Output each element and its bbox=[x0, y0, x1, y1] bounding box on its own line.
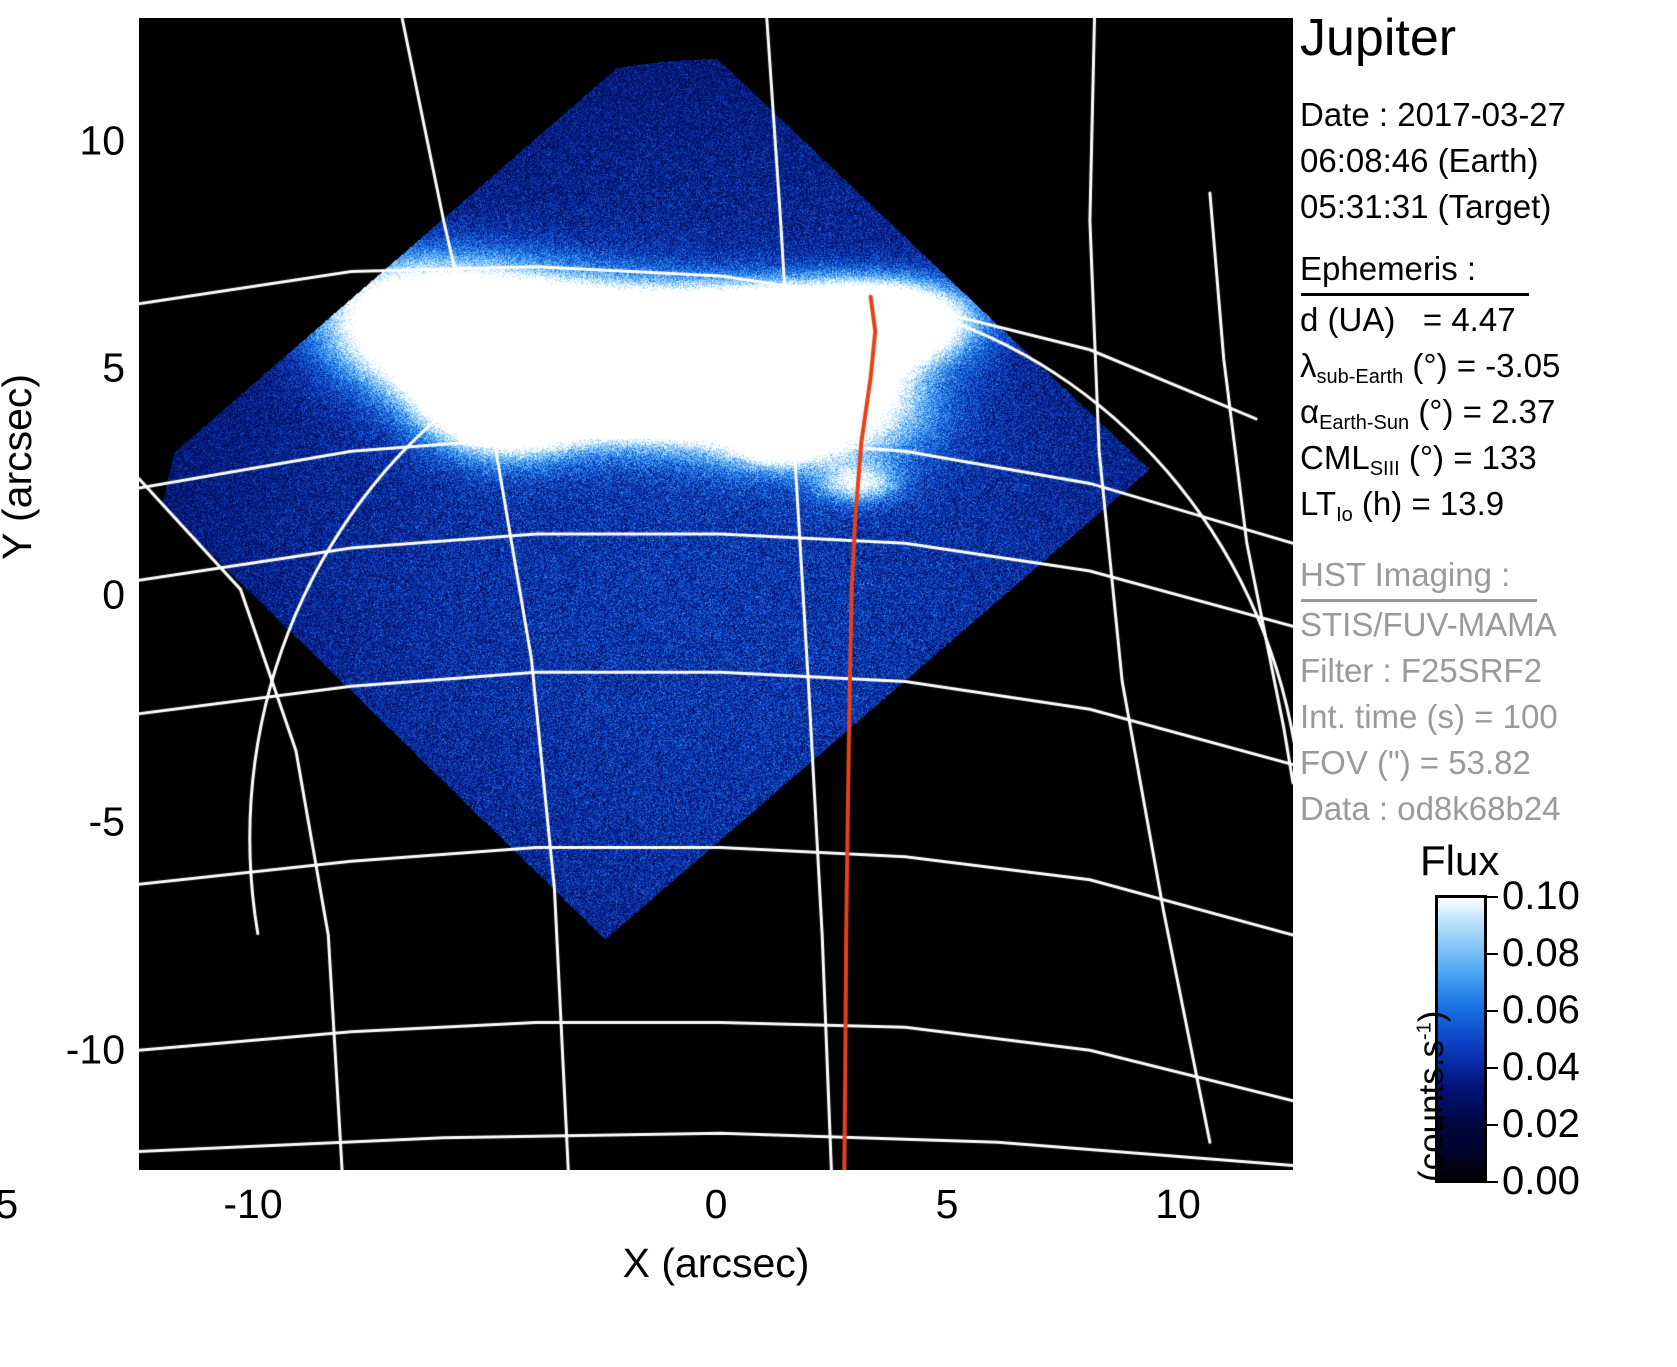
ephemeris-row-io-local-time: LTIo (h) = 13.9 bbox=[1300, 487, 1504, 520]
colorbar-tick bbox=[1487, 1181, 1498, 1183]
colorbar-tick-label: 0.10 bbox=[1502, 876, 1580, 916]
hst-fov: FOV (") = 53.82 bbox=[1300, 746, 1531, 779]
ephemeris-value: = -3.05 bbox=[1457, 347, 1561, 384]
ephemeris-unit: (h) bbox=[1362, 485, 1402, 522]
observation-time-earth: 06:08:46 (Earth) bbox=[1300, 144, 1538, 177]
colorbar-tick bbox=[1487, 953, 1498, 955]
hst-imaging-header-rule bbox=[1301, 599, 1537, 602]
hst-data-id: Data : od8k68b24 bbox=[1300, 792, 1561, 825]
x-tick-label: -10 bbox=[223, 1184, 282, 1225]
ephemeris-subscript: Earth-Sun bbox=[1319, 412, 1409, 434]
ephemeris-value: = 13.9 bbox=[1411, 485, 1504, 522]
colorbar-unit-label: (counts.s-1) bbox=[1412, 1011, 1452, 1182]
ephemeris-symbol: LT bbox=[1300, 485, 1336, 522]
ephemeris-unit: (°) bbox=[1412, 347, 1447, 384]
page-title: Jupiter bbox=[1300, 12, 1456, 64]
y-tick-label: 10 bbox=[79, 121, 125, 162]
ephemeris-unit: (UA) bbox=[1328, 301, 1396, 338]
ephemeris-value: = 4.47 bbox=[1423, 301, 1516, 338]
colorbar-tick bbox=[1487, 896, 1498, 898]
colorbar-tick-label: 0.08 bbox=[1502, 933, 1580, 973]
observation-info-panel: Jupiter Date : 2017-03-27 06:08:46 (Eart… bbox=[1300, 0, 1677, 800]
aurora-heatmap-canvas bbox=[139, 18, 1293, 1170]
observation-date: Date : 2017-03-27 bbox=[1300, 98, 1566, 131]
y-axis-title: Y (arcsec) bbox=[0, 374, 41, 560]
hst-integration-time: Int. time (s) = 100 bbox=[1300, 700, 1558, 733]
ephemeris-header: Ephemeris : bbox=[1300, 252, 1476, 285]
ephemeris-row-phase-angle: αEarth-Sun (°) = 2.37 bbox=[1300, 395, 1555, 428]
ephemeris-subscript: SIII bbox=[1370, 458, 1400, 480]
colorbar-tick-label: 0.06 bbox=[1502, 990, 1580, 1030]
aurora-image-plot[interactable] bbox=[139, 18, 1293, 1170]
y-tick-label: -5 bbox=[89, 802, 125, 843]
y-tick-label: 5 bbox=[102, 348, 125, 389]
x-axis-title: X (arcsec) bbox=[623, 1240, 810, 1287]
colorbar-tick bbox=[1487, 1067, 1498, 1069]
ephemeris-unit: (°) bbox=[1418, 393, 1453, 430]
flux-colorbar-block: Flux 0.10 0.08 0.06 0.04 0.02 0.00 (coun… bbox=[1300, 830, 1677, 1250]
colorbar-tick-label: 0.02 bbox=[1502, 1104, 1580, 1144]
ephemeris-subscript: Io bbox=[1336, 504, 1353, 526]
ephemeris-row-cml: CMLSIII (°) = 133 bbox=[1300, 441, 1537, 474]
hst-imaging-header: HST Imaging : bbox=[1300, 558, 1510, 591]
colorbar-tick bbox=[1487, 1124, 1498, 1126]
observation-time-target: 05:31:31 (Target) bbox=[1300, 190, 1551, 223]
ephemeris-symbol: λ bbox=[1300, 347, 1317, 384]
colorbar-tick-label: 0.04 bbox=[1502, 1047, 1580, 1087]
x-tick-label: -5 bbox=[0, 1184, 18, 1225]
ephemeris-header-rule bbox=[1301, 293, 1529, 296]
ephemeris-value: = 133 bbox=[1453, 439, 1537, 476]
x-tick-label: 10 bbox=[1155, 1184, 1201, 1225]
ephemeris-row-distance: d (UA) = 4.47 bbox=[1300, 303, 1516, 336]
y-tick-label: -10 bbox=[66, 1030, 125, 1071]
ephemeris-symbol: CML bbox=[1300, 439, 1370, 476]
hst-filter: Filter : F25SRF2 bbox=[1300, 654, 1542, 687]
hst-instrument: STIS/FUV-MAMA bbox=[1300, 608, 1557, 641]
x-tick-label: 0 bbox=[705, 1184, 728, 1225]
ephemeris-unit: (°) bbox=[1409, 439, 1444, 476]
x-tick-label: 5 bbox=[936, 1184, 959, 1225]
ephemeris-symbol: α bbox=[1300, 393, 1319, 430]
y-tick-label: 0 bbox=[102, 575, 125, 616]
colorbar-tick bbox=[1487, 1010, 1498, 1012]
ephemeris-symbol: d bbox=[1300, 301, 1318, 338]
ephemeris-value: = 2.37 bbox=[1463, 393, 1556, 430]
colorbar-tick-label: 0.00 bbox=[1502, 1161, 1580, 1201]
ephemeris-subscript: sub-Earth bbox=[1317, 366, 1404, 388]
y-axis: Y (arcsec) 10 5 0 -5 -10 bbox=[0, 0, 139, 1367]
colorbar-title: Flux bbox=[1420, 840, 1499, 882]
ephemeris-row-sub-earth-latitude: λsub-Earth (°) = -3.05 bbox=[1300, 349, 1560, 382]
